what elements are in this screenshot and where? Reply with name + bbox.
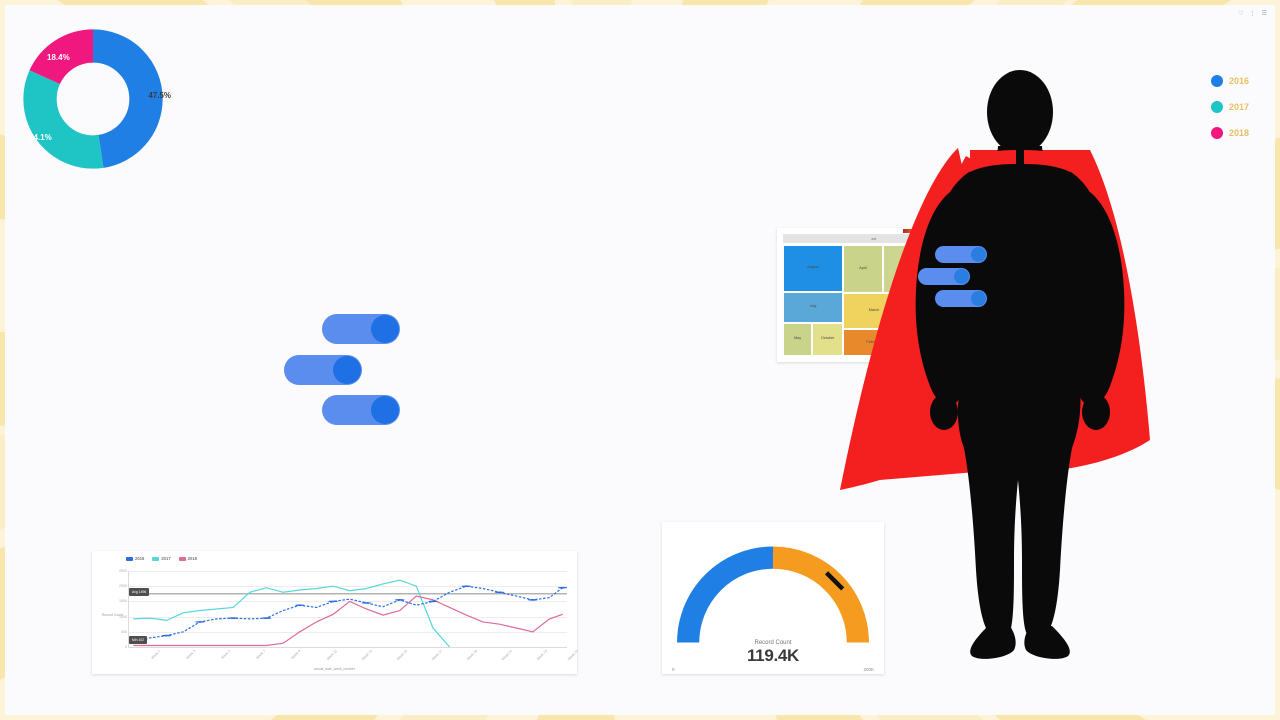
- reference-label: Avg 1496: [129, 588, 149, 596]
- treemap-cell[interactable]: May: [783, 323, 812, 356]
- x-tick: Week 19: [466, 649, 478, 661]
- donut-value-label: 18.4%: [47, 53, 70, 62]
- toggle-knob[interactable]: [971, 247, 986, 262]
- line-chart-card[interactable]: 2016 2017 2018 Record Count arrival_date…: [92, 551, 577, 674]
- legend-item: 2016: [126, 556, 144, 561]
- toggle-bottom[interactable]: [322, 395, 400, 425]
- legend-item: 2017: [152, 556, 170, 561]
- legend-label: 2018: [188, 556, 197, 561]
- donut-hole: [61, 67, 125, 131]
- x-tick: Week 9: [290, 649, 301, 660]
- legend-label: 2018: [1229, 128, 1249, 138]
- more-icon[interactable]: ⋮: [1250, 10, 1256, 17]
- line-chart-legend: 2016 2017 2018: [126, 556, 197, 561]
- legend-label: 2016: [1229, 76, 1249, 86]
- donut-graphic[interactable]: 47.5% 34.1% 18.4%: [23, 29, 163, 169]
- x-tick: Week 23: [536, 649, 548, 661]
- legend-label: 2017: [161, 556, 170, 561]
- toggle-top[interactable]: [322, 314, 400, 344]
- x-tick: Week 11: [326, 649, 338, 661]
- y-tick: 1500: [119, 599, 127, 603]
- donut-value-label: 34.1%: [29, 133, 52, 142]
- heart-icon[interactable]: ♡: [1238, 10, 1243, 17]
- x-tick: Week 17: [431, 649, 443, 661]
- donut-value-label: 47.5%: [148, 91, 171, 100]
- filter-icon[interactable]: ☰: [1262, 10, 1267, 17]
- line-series-group: [129, 571, 567, 647]
- legend-item: 2018: [179, 556, 197, 561]
- y-tick: 500: [121, 630, 127, 634]
- legend-swatch-icon: [152, 557, 159, 561]
- y-tick: 2500: [119, 569, 127, 573]
- line-chart-plot: 0 500 1000 1500 2000 2500 Avg 1496 Min 1…: [128, 571, 567, 648]
- legend-label: 2017: [1229, 102, 1249, 112]
- chest-toggle-3[interactable]: [935, 290, 987, 307]
- y-tick: 1000: [119, 615, 127, 619]
- gauge-max-label: 200K: [863, 667, 874, 672]
- legend-label: 2016: [135, 556, 144, 561]
- toggle-knob[interactable]: [371, 315, 399, 343]
- gauge-min-label: 0: [672, 667, 675, 672]
- toggle-knob[interactable]: [333, 356, 361, 384]
- x-tick: Week 25: [567, 649, 579, 661]
- second-label: Min 102: [129, 636, 147, 644]
- chest-toggle-1[interactable]: [935, 246, 987, 263]
- donut-chart-card[interactable]: ♡ ⋮ ☰ 47.5% 34.1% 18.4% 2016 2017 2018: [0, 0, 289, 209]
- x-tick: Week 21: [501, 649, 513, 661]
- x-tick: Week 15: [396, 649, 408, 661]
- x-tick: Week 13: [361, 649, 373, 661]
- legend-swatch-icon: [126, 557, 133, 561]
- y-tick: 2000: [119, 584, 127, 588]
- superhero-illustration: [820, 60, 1220, 660]
- toggle-knob[interactable]: [954, 269, 969, 284]
- x-axis-title: arrival_date_week_number: [314, 667, 355, 671]
- toggle-middle[interactable]: [284, 355, 362, 385]
- x-tick: Week 3: [185, 649, 196, 660]
- x-tick: Week 7: [255, 649, 266, 660]
- gauge-value: 119.4K: [747, 646, 799, 665]
- chest-toggle-2[interactable]: [918, 268, 970, 285]
- x-tick: Week 5: [220, 649, 231, 660]
- toggle-knob[interactable]: [971, 291, 986, 306]
- y-tick: 0: [125, 645, 127, 649]
- legend-swatch-icon: [179, 557, 186, 561]
- toggle-knob[interactable]: [371, 396, 399, 424]
- donut-card-actions[interactable]: ♡ ⋮ ☰: [1238, 10, 1267, 17]
- x-tick: Week 1: [150, 649, 161, 660]
